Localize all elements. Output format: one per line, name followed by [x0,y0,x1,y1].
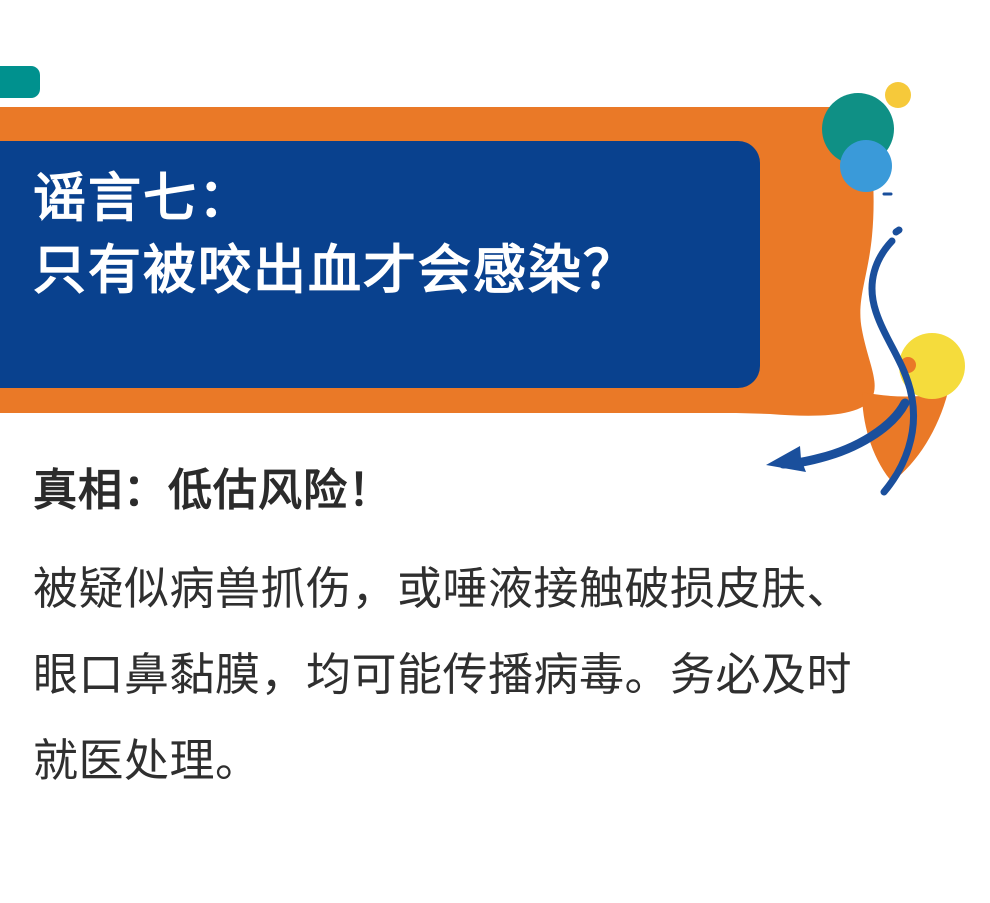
headline-text: 谣言七： 只有被咬出血才会感染？ [33,163,742,307]
headline-line-1: 谣言七： [33,163,742,235]
teal-circle [822,93,894,165]
rumor-info-card: 谣言七： 只有被咬出血才会感染？ 真相：低估风险！ 被疑似病兽抓伤，或唾液接触破… [0,0,990,903]
yellow-circle [899,333,965,399]
headline-line-2: 只有被咬出血才会感染？ [33,235,742,307]
teal-rounded-tab [0,66,40,98]
paragraph-line-3: 就医处理。 [33,718,963,804]
small-orange-dot [900,357,916,373]
blue-curve-tip [896,230,899,232]
blue-curved-line [872,241,914,492]
paragraph-line-1: 被疑似病兽抓伤，或唾液接触破损皮肤、 [33,546,963,632]
truth-heading: 真相：低估风险！ [33,460,963,522]
small-yellow-dot [885,82,911,108]
light-blue-circle [840,140,892,192]
headline-box: 谣言七： 只有被咬出血才会感染？ [0,141,760,388]
body-copy: 真相：低估风险！ 被疑似病兽抓伤，或唾液接触破损皮肤、 眼口鼻黏膜，均可能传播病… [33,460,963,804]
paragraph-line-2: 眼口鼻黏膜，均可能传播病毒。务必及时 [33,632,963,718]
